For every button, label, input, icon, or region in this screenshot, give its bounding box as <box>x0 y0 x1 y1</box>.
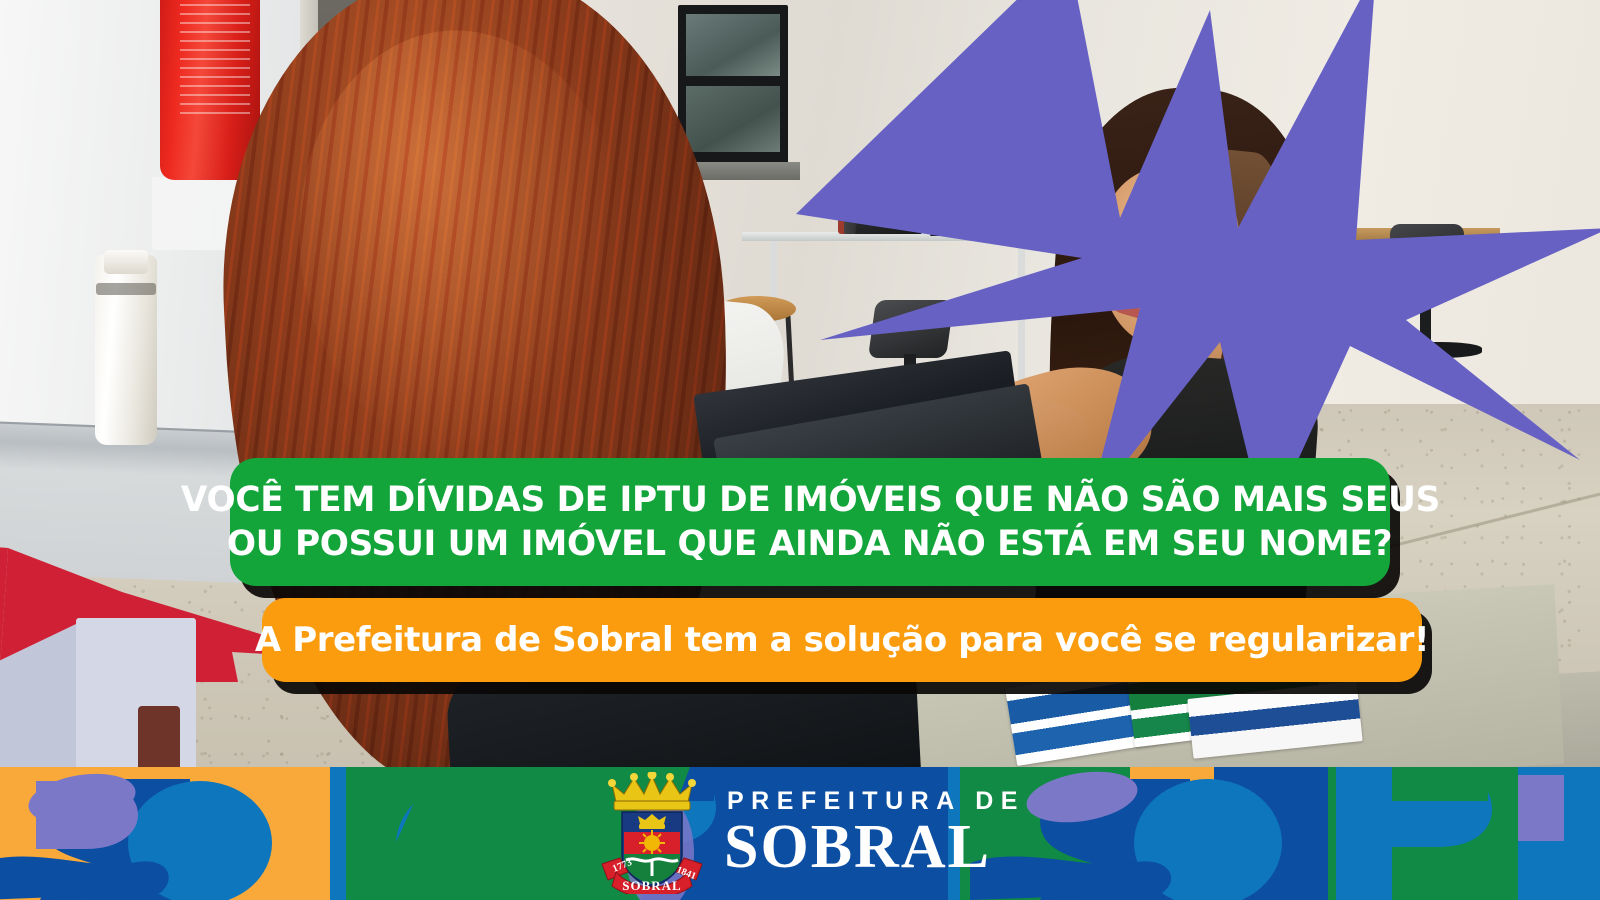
headline-line-2: OU POSSUI UM IMÓVEL QUE AINDA NÃO ESTÁ E… <box>227 525 1392 564</box>
footer-letter-d <box>36 781 138 849</box>
thermos-cap <box>104 250 148 274</box>
subheadline-text: A Prefeitura de Sobral tem a solução par… <box>255 623 1429 657</box>
thermos-band <box>96 283 156 295</box>
sobral-coat-of-arms-icon: 1773 1841 SOBRAL <box>598 772 706 894</box>
extinguisher-label <box>180 4 250 114</box>
footer-letter-stem <box>1392 865 1496 900</box>
crest-crown <box>608 772 696 810</box>
logo-wordmark: PREFEITURA DE SOBRAL <box>724 789 1025 878</box>
window-pane <box>686 14 780 76</box>
crest-motto: SOBRAL <box>622 878 681 893</box>
logo-prefeitura-line: PREFEITURA DE <box>727 789 1025 814</box>
purple-star-shape <box>796 0 1600 510</box>
footer-purple-block <box>1518 775 1564 841</box>
purple-star-icon <box>790 0 1600 510</box>
headline-banner: VOCÊ TEM DÍVIDAS DE IPTU DE IMÓVEIS QUE … <box>230 458 1390 586</box>
headline-line-1: VOCÊ TEM DÍVIDAS DE IPTU DE IMÓVEIS QUE … <box>180 481 1439 520</box>
footer-letter-stem <box>1392 767 1488 801</box>
window-pane <box>686 86 780 152</box>
logo-sobral-line: SOBRAL <box>724 816 1025 878</box>
footer-letter-s <box>0 857 169 900</box>
subheadline-banner: A Prefeitura de Sobral tem a solução par… <box>262 598 1422 682</box>
poster-canvas: VOCÊ TEM DÍVIDAS DE IPTU DE IMÓVEIS QUE … <box>0 0 1600 900</box>
crest-sun <box>644 835 660 851</box>
prefeitura-logo: 1773 1841 SOBRAL PREFEITURA DE SOBRAL <box>598 772 1025 894</box>
